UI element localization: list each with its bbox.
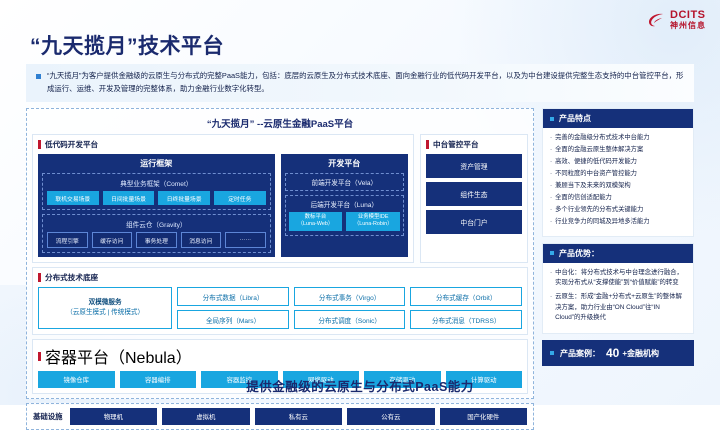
advantages-card-header: 产品优势： (543, 244, 693, 263)
sub-code: （Luna-Web） (298, 221, 334, 227)
infrastructure-label: 基础设施 (33, 411, 63, 422)
bullet-square-icon (550, 351, 554, 355)
backend-sub-luna-web[interactable]: 数标平台 （Luna-Web） (289, 212, 343, 231)
red-bar-icon (38, 273, 41, 282)
feature-item: ·高效、便捷的低代码开发能力 (550, 157, 686, 167)
page-title: “九天揽月”技术平台 (30, 30, 224, 60)
techbase-panel: 分布式技术底座 双模微服务 （云原生模式 | 传统模式） 分布式数据（Libra… (32, 267, 528, 335)
lowcode-header: 低代码开发平台 (38, 139, 408, 150)
sub-name: 业务模型IDE (358, 214, 389, 220)
features-card: 产品特点 ·完善的金融级分布式技术中台能力 ·全面的金融云原生整体解决方案 ·高… (542, 108, 694, 237)
sidebar: 产品特点 ·完善的金融级分布式技术中台能力 ·全面的金融云原生整体解决方案 ·高… (542, 108, 694, 366)
red-bar-icon (38, 352, 41, 361)
console-item-component[interactable]: 组件生态 (426, 182, 522, 206)
infra-item[interactable]: 私有云 (255, 408, 342, 425)
dot-icon: · (550, 205, 552, 215)
feature-text: 完善的金融级分布式技术中台能力 (555, 133, 649, 143)
techbase-cell[interactable]: 分布式消息（TDRSS） (410, 310, 522, 329)
intro-banner: “九天揽月”为客户提供金融级的云原生与分布式的完整PaaS能力，包括：底层的云原… (26, 64, 694, 102)
advantages-card: 产品优势： ·中台化：将分布式技术与中台理念进行融合，实现分布式从“支撑使能”到… (542, 243, 694, 335)
techbase-cell[interactable]: 分布式事务（Virgo） (294, 287, 406, 306)
gravity-tag[interactable]: 消息访问 (181, 232, 222, 248)
gravity-tag[interactable]: 事务处理 (136, 232, 177, 248)
feature-item: ·不同粒度的中台资产管控能力 (550, 169, 686, 179)
cases-suffix: +金融机构 (622, 348, 659, 359)
bullet-square-icon (550, 117, 554, 121)
infra-item[interactable]: 虚拟机 (162, 408, 249, 425)
dev-platform-block: 开发平台 前端开发平台（Vela） 后端开发平台（Luna） 数标平台 （Lun… (281, 154, 408, 257)
infra-item[interactable]: 公有云 (347, 408, 434, 425)
feature-text: 不同粒度的中台资产管控能力 (555, 169, 637, 179)
container-header-label: 容器平台（Nebula） (45, 344, 192, 368)
dual-mode-line2: （云原生模式 | 传统模式） (66, 308, 144, 318)
gravity-tag[interactable]: 流程引擎 (47, 232, 88, 248)
dot-icon: · (550, 169, 552, 179)
feature-item: ·全面的信创适配能力 (550, 193, 686, 203)
advantages-title: 产品优势： (559, 248, 599, 259)
features-list: ·完善的金融级分布式技术中台能力 ·全面的金融云原生整体解决方案 ·高效、便捷的… (543, 128, 693, 236)
techbase-column-3: 分布式缓存（Orbit） 分布式消息（TDRSS） (410, 287, 522, 329)
techbase-cell[interactable]: 分布式缓存（Orbit） (410, 287, 522, 306)
dev-platform-title: 开发平台 (281, 154, 408, 173)
dot-icon: · (550, 268, 552, 289)
console-item-portal[interactable]: 中台门户 (426, 210, 522, 234)
backend-platform-group: 后端开发平台（Luna） 数标平台 （Luna-Web） 业务模型IDE (285, 195, 404, 236)
feature-text: 多个行业领先的分布式关键能力 (555, 205, 643, 215)
cases-number: 40 (606, 346, 619, 360)
dot-icon: · (550, 145, 552, 155)
console-panel: 中台管控平台 资产管理 组件生态 中台门户 (420, 134, 528, 263)
backend-sub-luna-robin[interactable]: 业务模型IDE （Luna-Robin） (346, 212, 400, 231)
console-header-label: 中台管控平台 (433, 139, 479, 150)
dual-mode-line1: 双模微服务 (89, 298, 122, 308)
dot-icon: · (550, 292, 552, 323)
dot-icon: · (550, 181, 552, 191)
console-item-asset[interactable]: 资产管理 (426, 154, 522, 178)
brand-name-cn: 神州信息 (670, 22, 706, 30)
dot-icon: · (550, 157, 552, 167)
slide-root: DCITS 神州信息 “九天揽月”技术平台 “九天揽月”为客户提供金融级的云原生… (0, 0, 720, 405)
lowcode-panel: 低代码开发平台 运行框架 典型业务框架（Comet） 联机交易场景 日间批量场景 (32, 134, 414, 263)
dcits-swirl-icon (646, 10, 666, 30)
bullet-square-icon (550, 251, 554, 255)
architecture-title: “九天揽月” --云原生金融PaaS平台 (32, 113, 528, 134)
backend-platform-label: 后端开发平台（Luna） (289, 199, 400, 209)
advantage-text: 云原生：形成“金融+分布式+云原生”的整体解决方案，助力行业由“ON Cloud… (555, 292, 686, 323)
dot-icon: · (550, 217, 552, 227)
features-card-header: 产品特点 (543, 109, 693, 128)
footer-tagline: 提供金融级的云原生与分布式PaaS能力 (0, 376, 720, 395)
comet-tag[interactable]: 日间批量场景 (103, 191, 155, 205)
feature-text: 全面的信创适配能力 (555, 193, 612, 203)
gravity-tag[interactable]: …… (225, 232, 266, 248)
gravity-group: 组件云仓（Gravity） 流程引擎 缓存访问 事务处理 消息访问 …… (42, 214, 271, 253)
runtime-framework-block: 运行框架 典型业务框架（Comet） 联机交易场景 日间批量场景 日终批量场景 … (38, 154, 275, 257)
dot-icon: · (550, 193, 552, 203)
cases-banner: 产品案例： 40 +金融机构 (542, 340, 694, 366)
dual-mode-microservice[interactable]: 双模微服务 （云原生模式 | 传统模式） (38, 287, 172, 329)
advantage-text: 中台化：将分布式技术与中台理念进行融合，实现分布式从“支撑使能”到“价值赋能”的… (555, 268, 686, 289)
container-header: 容器平台（Nebula） (38, 344, 522, 368)
red-bar-icon (38, 140, 41, 149)
infra-item[interactable]: 物理机 (70, 408, 157, 425)
feature-item: ·多个行业领先的分布式关键能力 (550, 205, 686, 215)
cases-label: 产品案例： (560, 348, 600, 359)
techbase-header-label: 分布式技术底座 (45, 272, 98, 283)
techbase-column-1: 分布式数据（Libra） 全局序列（Mars） (177, 287, 289, 329)
feature-item: ·全面的金融云原生整体解决方案 (550, 145, 686, 155)
feature-text: 高效、便捷的低代码开发能力 (555, 157, 637, 167)
architecture-diagram: “九天揽月” --云原生金融PaaS平台 低代码开发平台 运行框架 (26, 108, 534, 399)
frontend-platform[interactable]: 前端开发平台（Vela） (285, 173, 404, 191)
console-header: 中台管控平台 (426, 139, 522, 150)
feature-text: 行业竞争力的同城及异地多活能力 (555, 217, 649, 227)
techbase-cell[interactable]: 分布式调度（Sonic） (294, 310, 406, 329)
advantage-item: ·中台化：将分布式技术与中台理念进行融合，实现分布式从“支撑使能”到“价值赋能”… (550, 268, 686, 289)
lowcode-header-label: 低代码开发平台 (45, 139, 98, 150)
runtime-title: 运行框架 (38, 154, 275, 173)
sub-code: （Luna-Robin） (354, 221, 393, 227)
gravity-tag[interactable]: 缓存访问 (92, 232, 133, 248)
techbase-cell[interactable]: 分布式数据（Libra） (177, 287, 289, 306)
techbase-header: 分布式技术底座 (38, 272, 522, 283)
feature-item: ·行业竞争力的同城及异地多活能力 (550, 217, 686, 227)
feature-text: 兼顾当下及未来的双模架构 (555, 181, 631, 191)
sub-name: 数标平台 (305, 214, 327, 220)
intro-text: “九天揽月”为客户提供金融级的云原生与分布式的完整PaaS能力，包括：底层的云原… (47, 70, 686, 96)
infrastructure-row: 基础设施 物理机 虚拟机 私有云 公有云 国产化硬件 (26, 403, 534, 430)
dot-icon: · (550, 133, 552, 143)
techbase-cell[interactable]: 全局序列（Mars） (177, 310, 289, 329)
feature-text: 全面的金融云原生整体解决方案 (555, 145, 643, 155)
brand-logo: DCITS 神州信息 (646, 10, 706, 30)
advantages-list: ·中台化：将分布式技术与中台理念进行融合，实现分布式从“支撑使能”到“价值赋能”… (543, 263, 693, 334)
comet-tag[interactable]: 定时任务 (214, 191, 266, 205)
gravity-title: 组件云仓（Gravity） (47, 218, 266, 232)
red-bar-icon (426, 140, 429, 149)
main-content: “九天揽月” --云原生金融PaaS平台 低代码开发平台 运行框架 (26, 108, 694, 366)
comet-group: 典型业务框架（Comet） 联机交易场景 日间批量场景 日终批量场景 定时任务 (42, 173, 271, 210)
bullet-square-icon (36, 74, 41, 79)
comet-tag[interactable]: 日终批量场景 (158, 191, 210, 205)
comet-tag[interactable]: 联机交易场景 (47, 191, 99, 205)
feature-item: ·兼顾当下及未来的双模架构 (550, 181, 686, 191)
features-title: 产品特点 (559, 113, 591, 124)
brand-name-en: DCITS (670, 10, 706, 21)
comet-title: 典型业务框架（Comet） (47, 177, 266, 191)
feature-item: ·完善的金融级分布式技术中台能力 (550, 133, 686, 143)
advantage-item: ·云原生：形成“金融+分布式+云原生”的整体解决方案，助力行业由“ON Clou… (550, 292, 686, 323)
techbase-column-2: 分布式事务（Virgo） 分布式调度（Sonic） (294, 287, 406, 329)
infra-item[interactable]: 国产化硬件 (440, 408, 527, 425)
